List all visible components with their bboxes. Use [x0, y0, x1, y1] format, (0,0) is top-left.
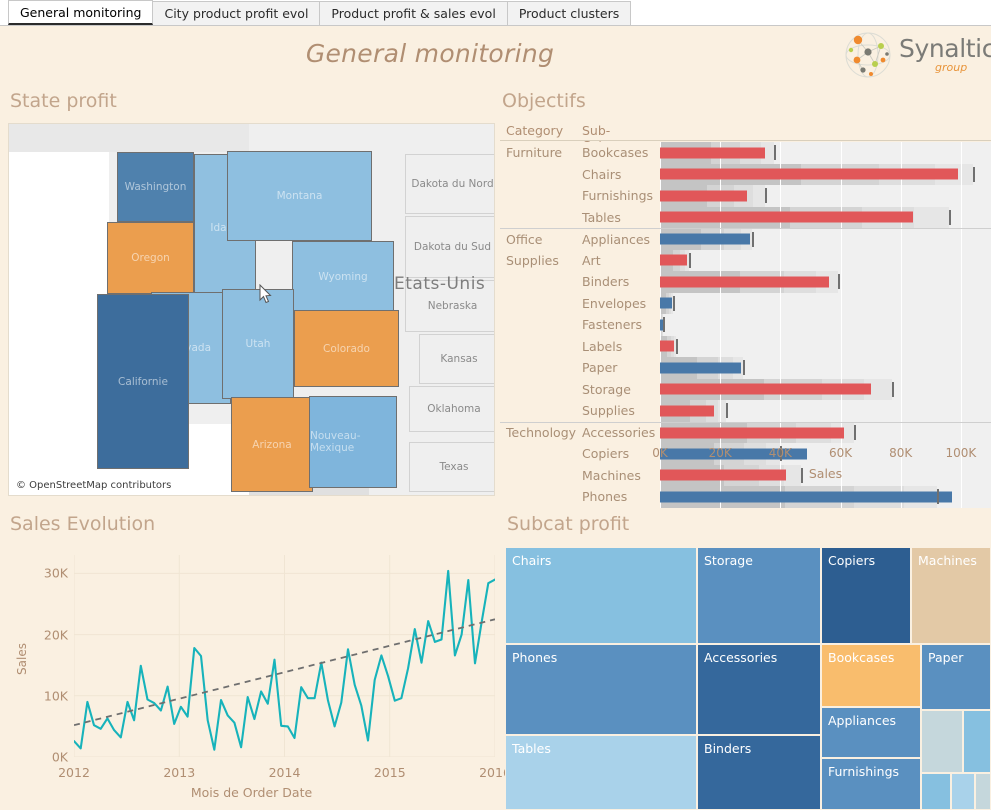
bullet-axis-tick: 80K: [889, 446, 912, 460]
bullet-category-label: Furniture: [500, 142, 582, 164]
bullet-gridline: [961, 207, 962, 229]
map-state-label: Arizona: [252, 439, 291, 451]
bullet-measure-bar: [660, 190, 747, 201]
bullet-plot: [660, 229, 991, 250]
bullet-category-label: [500, 271, 582, 293]
line-x-tick: 2014: [269, 765, 301, 780]
bullet-gridline: [780, 357, 781, 379]
subcat-profit-heading: Subcat profit: [507, 513, 629, 535]
map-state-label: Dakota du Nord: [411, 178, 493, 190]
mouse-cursor-icon: [259, 284, 272, 304]
bullet-gridline: [901, 229, 902, 250]
bullet-subcategory-label: Art: [582, 250, 660, 272]
treemap-tile-tables[interactable]: Tables: [505, 735, 697, 810]
bullet-gridline: [720, 400, 721, 422]
map-state-label: Wyoming: [318, 271, 367, 283]
bullet-row[interactable]: Phones: [500, 486, 991, 508]
bullet-gridline: [720, 250, 721, 272]
treemap-tile-paper[interactable]: Paper: [921, 644, 991, 710]
treemap-tile-binders[interactable]: Binders: [697, 735, 821, 810]
map-canada-strip: [9, 124, 249, 152]
bullet-category-label: [500, 336, 582, 358]
line-y-tick: 0K: [52, 750, 68, 765]
bullet-row[interactable]: SuppliesArt: [500, 250, 991, 272]
tab-product-profit-sales-evol[interactable]: Product profit & sales evol: [319, 1, 507, 25]
map-ocean-west: [9, 124, 109, 496]
map-state-wyoming[interactable]: Wyoming: [292, 241, 394, 313]
bullet-row[interactable]: OfficeAppliances: [500, 228, 991, 250]
treemap-tile-appliances[interactable]: Appliances: [821, 707, 921, 758]
bullet-gridline: [841, 400, 842, 422]
bullet-subcategory-label: Binders: [582, 271, 660, 293]
map-country-label: Etats-Unis: [394, 274, 485, 294]
bullet-row[interactable]: Envelopes: [500, 293, 991, 315]
bullet-gridline: [780, 400, 781, 422]
bullet-target-tick: [854, 425, 856, 440]
bullet-category-label: Supplies: [500, 250, 582, 272]
bullet-subcategory-label: Supplies: [582, 400, 660, 422]
bullet-plot: [660, 250, 991, 272]
bullet-gridline: [901, 336, 902, 358]
map-attribution: © OpenStreetMap contributors: [13, 479, 174, 492]
line-y-tick: 30K: [44, 566, 68, 581]
synaltic-logo: Synaltic group: [843, 28, 983, 82]
bullet-category-label: [500, 207, 582, 229]
bullet-gridline: [901, 185, 902, 207]
bullet-gridline: [961, 185, 962, 207]
bullet-row[interactable]: Furnishings: [500, 185, 991, 207]
bullet-plot: [660, 486, 991, 508]
bullet-subcategory-label: Paper: [582, 357, 660, 379]
bullet-row[interactable]: Binders: [500, 271, 991, 293]
tab-city-product-profit-evol[interactable]: City product profit evol: [152, 1, 320, 25]
line-x-tick: 2013: [163, 765, 195, 780]
treemap-tile-furnishings[interactable]: Furnishings: [821, 758, 921, 810]
bullet-gridline: [961, 423, 962, 444]
treemap-tile[interactable]: [951, 773, 975, 810]
bullet-gridline: [961, 229, 962, 250]
bullet-category-label: [500, 314, 582, 336]
map-state-label: Nebraska: [428, 300, 478, 312]
bullet-subcategory-label: Bookcases: [582, 142, 660, 164]
map-state-oregon[interactable]: Oregon: [107, 222, 194, 294]
bullet-plot: [660, 293, 991, 315]
bullet-target-tick: [673, 296, 675, 311]
bullet-row[interactable]: Labels: [500, 336, 991, 358]
bullet-subcategory-label: Phones: [582, 486, 660, 508]
bullet-measure-bar: [660, 147, 765, 158]
bullet-category-label: [500, 357, 582, 379]
bullet-category-label: [500, 465, 582, 487]
bullet-plot: [660, 400, 991, 422]
bullet-gridline: [961, 293, 962, 315]
bullet-gridline: [901, 250, 902, 272]
bullet-gridline: [780, 250, 781, 272]
bullet-category-label: [500, 164, 582, 186]
line-y-tick: 20K: [44, 627, 68, 642]
treemap-tile[interactable]: [921, 710, 963, 773]
bullet-plot: [660, 207, 991, 229]
sales-evolution-chart[interactable]: Sales 0K10K20K30K 20122013201420152016 M…: [8, 547, 495, 807]
treemap-tile-chairs[interactable]: Chairs: [505, 547, 697, 644]
bullet-measure-bar: [660, 427, 844, 438]
dashboard-title: General monitoring: [0, 36, 860, 72]
bullet-gridline: [780, 336, 781, 358]
bullet-gridline: [901, 314, 902, 336]
bullet-gridline: [841, 336, 842, 358]
bullet-subcategory-label: Fasteners: [582, 314, 660, 336]
treemap-tile-machines[interactable]: Machines: [911, 547, 991, 644]
bullet-gridline: [780, 229, 781, 250]
bullet-target-tick: [774, 145, 776, 160]
bullet-gridline: [841, 142, 842, 164]
map-state-label: Texas: [439, 461, 468, 473]
state-profit-heading: State profit: [10, 90, 117, 112]
bullet-subcategory-label: Copiers: [582, 443, 660, 465]
bullet-plot: [660, 142, 991, 164]
bullet-gridline: [841, 185, 842, 207]
bullet-gridline: [841, 314, 842, 336]
bullet-subcategory-label: Appliances: [582, 229, 660, 250]
bullet-category-label: [500, 486, 582, 508]
bullet-measure-bar: [660, 234, 750, 245]
bullet-gridline: [901, 357, 902, 379]
map-state-oklahoma[interactable]: Oklahoma: [409, 386, 495, 432]
bullet-rows-container: FurnitureBookcasesChairsFurnishingsTable…: [500, 142, 991, 444]
bullet-axis-tick: 20K: [709, 446, 732, 460]
map-state-label: Oregon: [131, 252, 170, 264]
bullet-gridline: [841, 357, 842, 379]
bullet-target-tick: [663, 317, 665, 332]
bullet-gridline: [841, 229, 842, 250]
objectifs-bullet-chart[interactable]: Category Sub-Catego.. FurnitureBookcases…: [500, 123, 991, 496]
bullet-category-label: Technology: [500, 423, 582, 444]
bullet-gridline: [961, 379, 962, 401]
tab-product-clusters[interactable]: Product clusters: [507, 1, 631, 25]
bullet-measure-bar: [660, 384, 871, 395]
bullet-target-tick: [689, 253, 691, 268]
map-state-colorado[interactable]: Colorado: [294, 310, 399, 387]
bullet-gridline: [720, 293, 721, 315]
bullet-category-label: [500, 443, 582, 465]
bullet-gridline: [841, 250, 842, 272]
bullet-gridline: [780, 293, 781, 315]
bullet-subcategory-label: Accessories: [582, 423, 660, 444]
bullet-subcategory-label: Chairs: [582, 164, 660, 186]
bullet-row[interactable]: FurnitureBookcases: [500, 142, 991, 164]
bullet-gridline: [901, 293, 902, 315]
bullet-axis-tick: 40K: [769, 446, 792, 460]
treemap-tile[interactable]: [975, 773, 991, 810]
line-y-axis-label: Sales: [15, 643, 29, 675]
subcat-profit-treemap[interactable]: ChairsPhonesTablesStorageAccessoriesBind…: [505, 547, 991, 810]
map-state-utah[interactable]: Utah: [222, 289, 294, 399]
bullet-target-tick: [752, 232, 754, 247]
bullet-subcategory-label: Envelopes: [582, 293, 660, 315]
bullet-gridline: [780, 185, 781, 207]
bullet-category-label: [500, 185, 582, 207]
treemap-tile-phones[interactable]: Phones: [505, 644, 697, 735]
bullet-header-row: Category Sub-Catego..: [500, 123, 991, 141]
line-x-axis-label: Mois de Order Date: [8, 785, 495, 800]
bullet-plot: [660, 357, 991, 379]
map-state-nouveau-mexique[interactable]: Nouveau-Mexique: [309, 396, 397, 488]
bullet-gridline: [961, 486, 962, 508]
map-state-label: Montana: [277, 190, 323, 202]
bullet-row[interactable]: TechnologyAccessories: [500, 422, 991, 444]
bullet-plot: [660, 314, 991, 336]
bullet-target-tick: [838, 274, 840, 289]
bullet-gridline: [720, 314, 721, 336]
bullet-category-label: [500, 293, 582, 315]
bullet-gridline: [961, 142, 962, 164]
bullet-gridline: [901, 423, 902, 444]
bullet-target-tick: [676, 339, 678, 354]
bullet-gridline: [901, 379, 902, 401]
bullet-gridline: [780, 314, 781, 336]
bullet-gridline: [841, 271, 842, 293]
bullet-gridline: [901, 400, 902, 422]
bullet-plot: [660, 164, 991, 186]
map-state-label: Dakota du Sud: [414, 241, 491, 253]
bullet-measure-bar: [660, 212, 913, 223]
map-state-label: Californie: [118, 376, 168, 388]
bullet-target-tick: [765, 188, 767, 203]
bullet-axis-tick: 100K: [946, 446, 977, 460]
bullet-measure-bar: [660, 491, 952, 502]
bullet-row[interactable]: Supplies: [500, 400, 991, 422]
bullet-target-tick: [949, 210, 951, 225]
treemap-tile-accessories[interactable]: Accessories: [697, 644, 821, 735]
bullet-plot: [660, 185, 991, 207]
map-state-arizona[interactable]: Arizona: [231, 397, 313, 492]
bullet-measure-bar: [660, 362, 741, 373]
map-state-label: Colorado: [323, 343, 370, 355]
bullet-gridline: [961, 250, 962, 272]
treemap-tile-bookcases[interactable]: Bookcases: [821, 644, 921, 707]
bullet-x-axis: 0K20K40K60K80K100K: [660, 446, 991, 464]
map-state-label: Oklahoma: [427, 403, 480, 415]
bullet-measure-bar: [660, 341, 674, 352]
bullet-plot: [660, 336, 991, 358]
treemap-tile[interactable]: [963, 710, 991, 773]
map-state-dakota-du-sud[interactable]: Dakota du Sud: [405, 216, 495, 278]
bullet-target-tick: [937, 489, 939, 504]
bullet-measure-bar: [660, 169, 958, 180]
bullet-gridline: [901, 271, 902, 293]
bullet-measure-bar: [660, 276, 829, 287]
logo-wordmark: Synaltic: [899, 34, 991, 63]
map-state-label: Nouveau-Mexique: [310, 430, 396, 454]
treemap-tile-copiers[interactable]: Copiers: [821, 547, 911, 644]
dashboard-root: General monitoring City product profit e…: [0, 0, 991, 810]
bullet-axis-label: Sales: [660, 466, 991, 481]
map-state-kansas[interactable]: Kansas: [419, 334, 495, 384]
bullet-plot: [660, 379, 991, 401]
treemap-tile[interactable]: [921, 773, 951, 810]
network-sphere-icon: [843, 30, 893, 80]
bullet-gridline: [780, 142, 781, 164]
map-state-californie[interactable]: Californie: [97, 294, 189, 469]
map-state-label: Washington: [125, 181, 187, 193]
bullet-target-tick: [726, 403, 728, 418]
bullet-subcategory-label: Tables: [582, 207, 660, 229]
bullet-category-label: [500, 379, 582, 401]
bullet-row[interactable]: Tables: [500, 207, 991, 229]
bullet-gridline: [961, 400, 962, 422]
map-state-texas[interactable]: Texas: [409, 442, 495, 492]
bullet-plot: [660, 271, 991, 293]
bullet-plot: [660, 423, 991, 444]
bullet-measure-bar: [660, 255, 687, 266]
bullet-axis-tick: 0K: [652, 446, 668, 460]
map-state-dakota-du-nord[interactable]: Dakota du Nord: [405, 154, 495, 214]
bullet-axis-tick: 60K: [829, 446, 852, 460]
bullet-target-tick: [973, 167, 975, 182]
bullet-target-tick: [892, 382, 894, 397]
line-x-tick: 2015: [374, 765, 406, 780]
bullet-gridline: [720, 336, 721, 358]
bullet-gridline: [901, 142, 902, 164]
bullet-gridline: [841, 293, 842, 315]
bullet-gridline: [961, 314, 962, 336]
tab-bar: General monitoring City product profit e…: [0, 0, 991, 26]
bullet-gridline: [961, 357, 962, 379]
treemap-tile-storage[interactable]: Storage: [697, 547, 821, 644]
bullet-row[interactable]: Chairs: [500, 164, 991, 186]
bullet-gridline: [961, 271, 962, 293]
bullet-subcategory-label: Labels: [582, 336, 660, 358]
bullet-measure-bar: [660, 405, 714, 416]
line-x-tick: 2012: [58, 765, 90, 780]
map-state-montana[interactable]: Montana: [227, 151, 372, 241]
bullet-gridline: [961, 336, 962, 358]
bullet-subcategory-label: Storage: [582, 379, 660, 401]
line-y-tick: 10K: [44, 688, 68, 703]
map-state-label: Kansas: [440, 353, 477, 365]
bullet-category-label: Office: [500, 229, 582, 250]
bullet-subcategory-label: Furnishings: [582, 185, 660, 207]
map-state-washington[interactable]: Washington: [117, 152, 194, 222]
bullet-measure-bar: [660, 298, 672, 309]
bullet-row[interactable]: Fasteners: [500, 314, 991, 336]
tab-general-monitoring[interactable]: General monitoring: [8, 0, 153, 25]
line-plot-area: [74, 555, 495, 757]
state-profit-map[interactable]: WashingtonOregonIdahoMontanaWyomingNevad…: [8, 123, 495, 496]
logo-tagline: group: [935, 61, 967, 74]
bullet-row[interactable]: Paper: [500, 357, 991, 379]
bullet-subcategory-label: Machines: [582, 465, 660, 487]
bullet-target-tick: [743, 360, 745, 375]
objectifs-heading: Objectifs: [502, 90, 586, 112]
bullet-category-label: [500, 400, 582, 422]
bullet-row[interactable]: Storage: [500, 379, 991, 401]
bullet-gridline: [961, 164, 962, 186]
map-state-label: Utah: [246, 338, 271, 350]
sales-evolution-heading: Sales Evolution: [10, 513, 155, 535]
